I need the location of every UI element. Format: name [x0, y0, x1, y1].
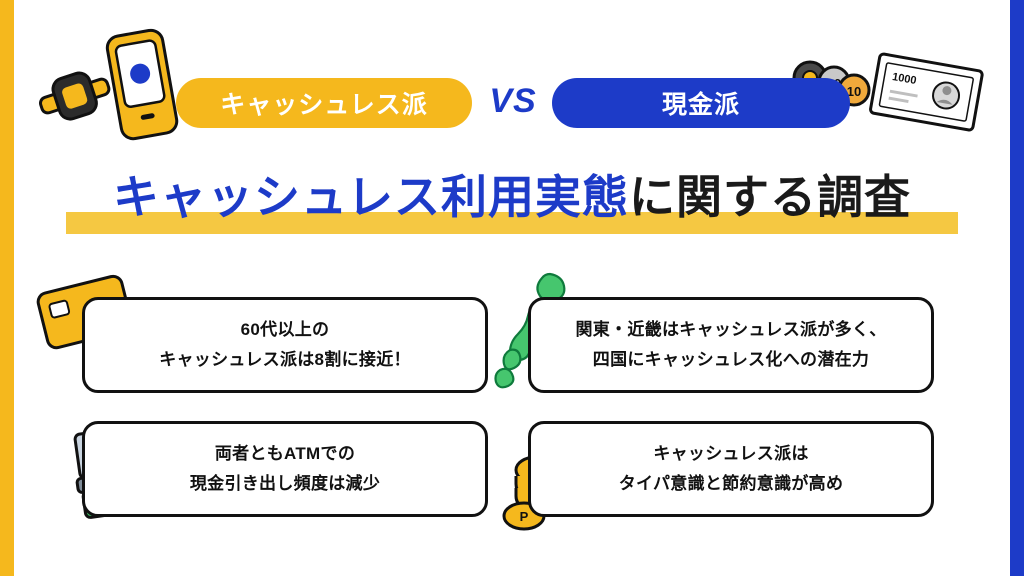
insight-card-atm-text: 両者ともATMでの 現金引き出し頻度は減少 — [190, 439, 380, 499]
cashless-pill-label: キャッシュレス派 — [220, 85, 428, 121]
title-rest-text: に関する調査 — [629, 171, 911, 223]
title-text: キャッシュレス利用実態に関する調査 — [0, 160, 1024, 234]
insight-card-region: 関東・近畿はキャッシュレス派が多く、 四国にキャッシュレス化への潜在力 — [528, 297, 934, 393]
insight-card-age-text: 60代以上の キャッシュレス派は8割に接近！ — [159, 315, 411, 375]
cash-pill: 現金派 — [552, 78, 850, 128]
page-title: キャッシュレス利用実態に関する調査 — [0, 160, 1024, 240]
svg-text:P: P — [520, 509, 529, 524]
vs-header-row: キャッシュレス派 VS 現金派 — [0, 78, 1024, 132]
cashless-pill: キャッシュレス派 — [176, 78, 472, 128]
cash-pill-label: 現金派 — [662, 85, 740, 121]
insight-card-region-text: 関東・近畿はキャッシュレス派が多く、 四国にキャッシュレス化への潜在力 — [575, 315, 886, 375]
insight-card-mindset: キャッシュレス派は タイパ意識と節約意識が高め — [528, 421, 934, 517]
insight-card-atm: 両者ともATMでの 現金引き出し頻度は減少 — [82, 421, 488, 517]
title-highlight-text: キャッシュレス利用実態 — [113, 171, 629, 223]
insight-card-age: 60代以上の キャッシュレス派は8割に接近！ — [82, 297, 488, 393]
insight-card-mindset-text: キャッシュレス派は タイパ意識と節約意識が高め — [619, 439, 844, 499]
vs-label: VS — [478, 82, 548, 121]
poster-canvas: 10 10 1000 キャッシュレス派 VS 現金派 — [0, 0, 1024, 576]
